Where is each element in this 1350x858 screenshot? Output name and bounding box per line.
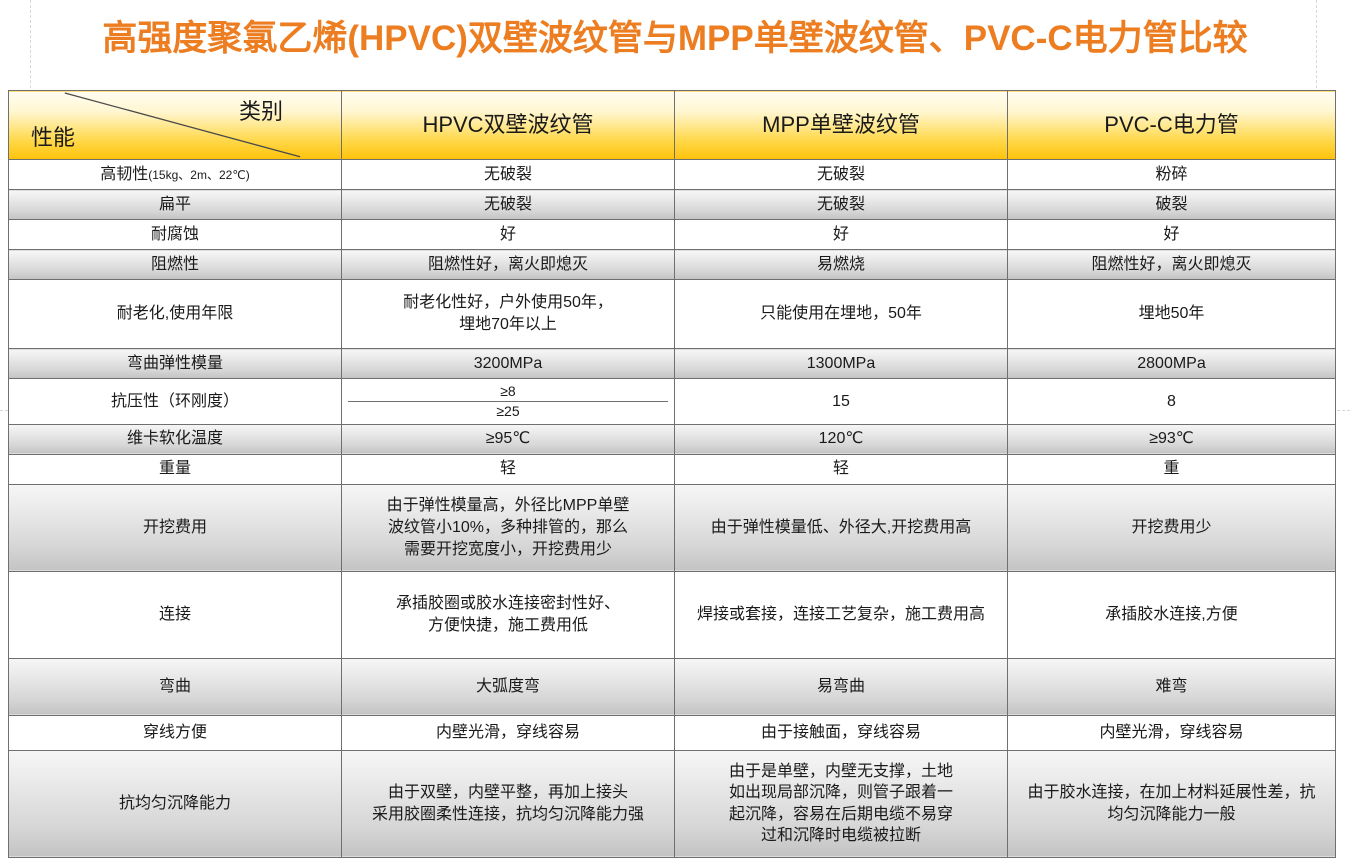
table-row: 弯曲大弧度弯易弯曲难弯: [9, 658, 1336, 715]
row-value-col1: 由于弹性模量高，外径比MPP单壁波纹管小10%，多种排管的，那么需要开挖宽度小，…: [342, 484, 675, 571]
row-value-col2: 由于接触面，穿线容易: [675, 715, 1008, 750]
row-value-col1: 好: [342, 220, 675, 250]
row-value-col2: 轻: [675, 454, 1008, 484]
row-value-col1: 阻燃性好，离火即熄灭: [342, 250, 675, 280]
row-property-label: 维卡软化温度: [9, 424, 342, 454]
row-value-col1: 耐老化性好，户外使用50年，埋地70年以上: [342, 280, 675, 349]
row-value-col1: 无破裂: [342, 160, 675, 190]
row-property-label: 连接: [9, 571, 342, 658]
table-row: 抗压性（环刚度）≥8≥25158: [9, 379, 1336, 425]
row-value-col1: 大弧度弯: [342, 658, 675, 715]
row-value-col2: 无破裂: [675, 190, 1008, 220]
table-row: 高韧性(15kg、2m、22℃)无破裂无破裂粉碎: [9, 160, 1336, 190]
row-value-col2: 无破裂: [675, 160, 1008, 190]
table-corner-cell: 类别性能: [9, 91, 342, 160]
row-value-col1: ≥95℃: [342, 424, 675, 454]
table-row: 抗均匀沉降能力由于双壁，内壁平整，再加上接头采用胶圈柔性连接，抗均匀沉降能力强由…: [9, 750, 1336, 857]
row-property-label: 抗均匀沉降能力: [9, 750, 342, 857]
row-value-col3: 内壁光滑，穿线容易: [1008, 715, 1336, 750]
table-row: 连接承插胶圈或胶水连接密封性好、方便快捷，施工费用低焊接或套接，连接工艺复杂，施…: [9, 571, 1336, 658]
corner-category-label: 类别: [239, 97, 283, 127]
row-value-sub2: ≥25: [348, 402, 668, 421]
row-value-col3: 好: [1008, 220, 1336, 250]
row-value-col2: 焊接或套接，连接工艺复杂，施工费用高: [675, 571, 1008, 658]
row-value-col2: 易燃烧: [675, 250, 1008, 280]
row-property-label: 耐老化,使用年限: [9, 280, 342, 349]
row-value-col1: ≥8≥25: [342, 379, 675, 425]
row-property-label: 耐腐蚀: [9, 220, 342, 250]
row-value-col1: 轻: [342, 454, 675, 484]
row-value-col1: 内壁光滑，穿线容易: [342, 715, 675, 750]
row-value-col3: 由于胶水连接，在加上材料延展性差，抗均匀沉降能力一般: [1008, 750, 1336, 857]
row-value-col1: 承插胶圈或胶水连接密封性好、方便快捷，施工费用低: [342, 571, 675, 658]
row-value-col2: 由于是单壁，内壁无支撑，土地如出现局部沉降，则管子跟着一起沉降，容易在后期电缆不…: [675, 750, 1008, 857]
row-value-col3: 8: [1008, 379, 1336, 425]
table-row: 耐老化,使用年限耐老化性好，户外使用50年，埋地70年以上只能使用在埋地，50年…: [9, 280, 1336, 349]
row-value-col2: 1300MPa: [675, 349, 1008, 379]
row-value-col2: 120℃: [675, 424, 1008, 454]
row-property-label: 扁平: [9, 190, 342, 220]
row-value-col2: 易弯曲: [675, 658, 1008, 715]
column-header-3: PVC-C电力管: [1008, 91, 1336, 160]
row-property-label: 抗压性（环刚度）: [9, 379, 342, 425]
row-value-col2: 好: [675, 220, 1008, 250]
row-value-col3: 重: [1008, 454, 1336, 484]
row-property-label: 开挖费用: [9, 484, 342, 571]
row-value-col3: 开挖费用少: [1008, 484, 1336, 571]
row-value-col1: 由于双壁，内壁平整，再加上接头采用胶圈柔性连接，抗均匀沉降能力强: [342, 750, 675, 857]
table-header-row: 类别性能HPVC双壁波纹管MPP单壁波纹管PVC-C电力管: [9, 91, 1336, 160]
table-row: 穿线方便内壁光滑，穿线容易由于接触面，穿线容易内壁光滑，穿线容易: [9, 715, 1336, 750]
table-row: 弯曲弹性模量3200MPa1300MPa2800MPa: [9, 349, 1336, 379]
row-value-sub1: ≥8: [348, 382, 668, 402]
row-value-col2: 15: [675, 379, 1008, 425]
column-header-1: HPVC双壁波纹管: [342, 91, 675, 160]
row-property-label: 重量: [9, 454, 342, 484]
row-value-col2: 由于弹性模量低、外径大,开挖费用高: [675, 484, 1008, 571]
row-value-col3: 破裂: [1008, 190, 1336, 220]
row-property-label: 穿线方便: [9, 715, 342, 750]
row-value-col3: 难弯: [1008, 658, 1336, 715]
table-row: 开挖费用由于弹性模量高，外径比MPP单壁波纹管小10%，多种排管的，那么需要开挖…: [9, 484, 1336, 571]
corner-property-label: 性能: [31, 123, 75, 153]
row-value-col3: ≥93℃: [1008, 424, 1336, 454]
column-header-2: MPP单壁波纹管: [675, 91, 1008, 160]
table-row: 重量轻轻重: [9, 454, 1336, 484]
table-row: 扁平无破裂无破裂破裂: [9, 190, 1336, 220]
row-value-col3: 粉碎: [1008, 160, 1336, 190]
table-row: 维卡软化温度≥95℃120℃≥93℃: [9, 424, 1336, 454]
row-property-label: 弯曲: [9, 658, 342, 715]
row-property-label: 阻燃性: [9, 250, 342, 280]
table-row: 阻燃性阻燃性好，离火即熄灭易燃烧阻燃性好，离火即熄灭: [9, 250, 1336, 280]
row-value-col3: 埋地50年: [1008, 280, 1336, 349]
table-row: 耐腐蚀好好好: [9, 220, 1336, 250]
comparison-table-container: 类别性能HPVC双壁波纹管MPP单壁波纹管PVC-C电力管高韧性(15kg、2m…: [8, 90, 1335, 858]
comparison-table: 类别性能HPVC双壁波纹管MPP单壁波纹管PVC-C电力管高韧性(15kg、2m…: [8, 90, 1336, 858]
row-value-col3: 阻燃性好，离火即熄灭: [1008, 250, 1336, 280]
row-value-col1: 无破裂: [342, 190, 675, 220]
row-property-label: 弯曲弹性模量: [9, 349, 342, 379]
row-value-col3: 承插胶水连接,方便: [1008, 571, 1336, 658]
page-title: 高强度聚氯乙烯(HPVC)双壁波纹管与MPP单壁波纹管、PVC-C电力管比较: [0, 8, 1350, 70]
row-property-label: 高韧性(15kg、2m、22℃): [9, 160, 342, 190]
row-value-col1: 3200MPa: [342, 349, 675, 379]
row-value-col3: 2800MPa: [1008, 349, 1336, 379]
row-value-col2: 只能使用在埋地，50年: [675, 280, 1008, 349]
